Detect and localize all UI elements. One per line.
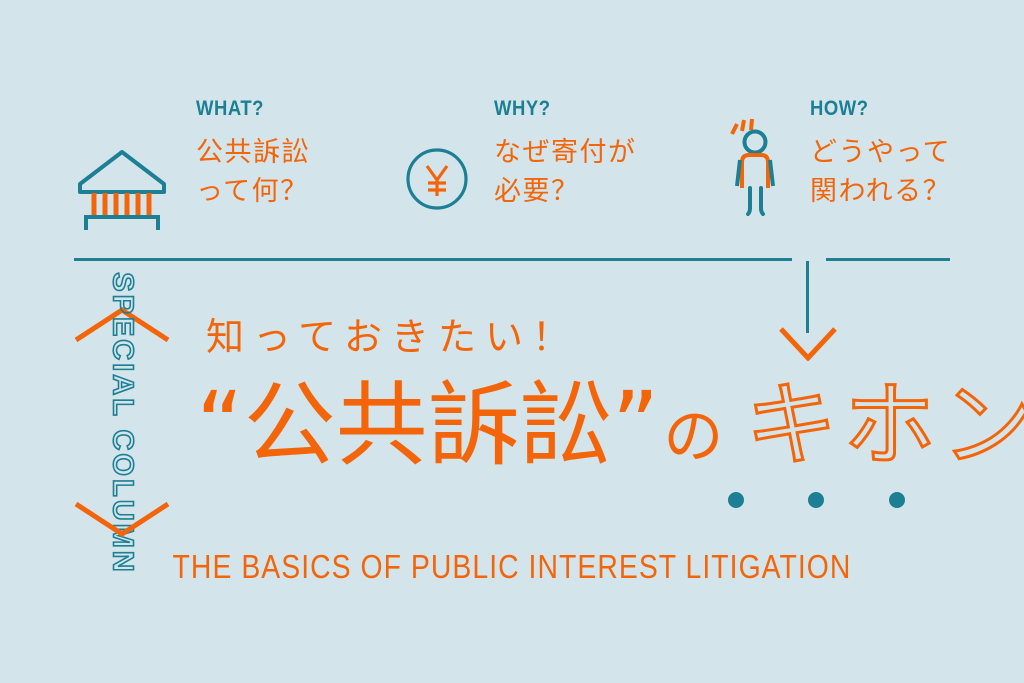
courthouse-icon [74, 138, 170, 230]
question-block-how: HOW? どうやって 関われる？ [724, 98, 951, 216]
question-line-2-how: 関われる？ [810, 172, 951, 211]
person-idea-icon [724, 116, 786, 216]
headline-main: “公共訴訟” の キホン [196, 380, 1024, 472]
special-column-badge: SPECIAL COLUMN [72, 306, 172, 538]
question-text-why: WHY? なぜ寄付が 必要？ [494, 98, 637, 211]
question-text-what: WHAT? 公共訴訟 って何？ [196, 98, 310, 211]
accent-dot [808, 492, 824, 508]
question-text-how: HOW? どうやって 関われる？ [810, 98, 951, 211]
headline-outlined-word: キホン [745, 380, 1024, 472]
headline-kicker: 知っておきたい！ [206, 318, 579, 356]
question-line-2-why: 必要？ [494, 172, 637, 211]
question-block-why: WHY? なぜ寄付が 必要？ [404, 98, 637, 212]
question-block-what: WHAT? 公共訴訟 って何？ [74, 98, 310, 230]
headline-particle: の [663, 407, 723, 467]
question-line-2-what: って何？ [196, 172, 310, 211]
question-line-1-why: なぜ寄付が [494, 133, 637, 172]
english-subtitle: THE BASICS OF PUBLIC INTEREST LITIGATION [72, 548, 953, 586]
special-column-label-wrap: SPECIAL COLUMN [72, 354, 172, 492]
arrow-stem [806, 261, 809, 333]
question-label-how: HOW? [810, 98, 934, 119]
question-line-1-how: どうやって [810, 133, 951, 172]
poster-canvas: WHAT? 公共訴訟 って何？ WHY? なぜ寄付が 必要？ [0, 0, 1024, 683]
chevron-down-icon [72, 500, 172, 538]
divider-rule-left [74, 258, 792, 261]
question-label-what: WHAT? [196, 98, 296, 119]
yen-coin-icon [404, 146, 470, 212]
question-label-why: WHY? [494, 98, 619, 119]
divider-rule-right [826, 258, 950, 261]
accent-dot [889, 492, 905, 508]
headline-quoted-term: “公共訴訟” [196, 380, 659, 472]
question-line-1-what: 公共訴訟 [196, 133, 310, 172]
accent-dot [728, 492, 744, 508]
arrow-down-icon [779, 327, 837, 361]
